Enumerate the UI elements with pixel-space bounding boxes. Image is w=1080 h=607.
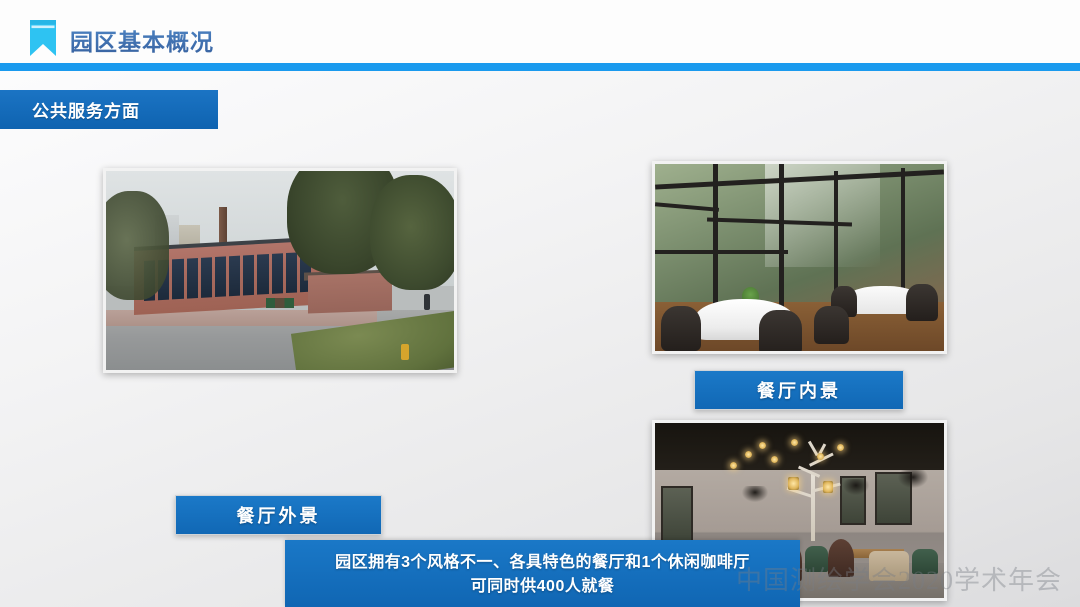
lantern (788, 477, 799, 490)
restaurant-exterior-photo (103, 168, 457, 373)
pendant-light (837, 444, 844, 451)
green-chair (912, 549, 938, 574)
lantern (823, 481, 833, 493)
glazing-transom (655, 250, 788, 254)
cafe-window-left (661, 486, 693, 544)
pendant-light (817, 453, 824, 460)
chandelier (843, 479, 869, 495)
section-ribbon: 公共服务方面 (0, 90, 218, 129)
header-divider (0, 63, 1080, 71)
slide: 园区基本概况 公共服务方面 (0, 0, 1080, 607)
green-chair (805, 546, 828, 572)
bookmark-icon (30, 20, 56, 56)
tree-trunk (811, 474, 814, 541)
trash-bins (266, 298, 294, 308)
caption-exterior: 餐厅外景 (175, 495, 382, 535)
summary-banner: 园区拥有3个风格不一、各具特色的餐厅和1个休闲咖啡厅 可同时供400人就餐 (285, 540, 800, 607)
caption-interior-label: 餐厅内景 (757, 377, 841, 403)
glazing-mullion (901, 168, 905, 291)
summary-line-1: 园区拥有3个风格不一、各具特色的餐厅和1个休闲咖啡厅 (335, 551, 750, 574)
glazing-mullion (713, 164, 718, 317)
chandelier (898, 470, 928, 488)
slide-body: 公共服务方面 (0, 71, 1080, 607)
glazing-mullion (779, 164, 784, 310)
caption-exterior-label: 餐厅外景 (237, 502, 321, 528)
glazing-mullion (834, 171, 838, 302)
dining-chair (661, 306, 701, 351)
pedestrian (424, 294, 430, 310)
dining-chair (759, 310, 802, 354)
tree-branch (807, 441, 817, 456)
restaurant-interior-photo (652, 161, 947, 354)
pendant-light (771, 456, 778, 463)
summary-line-2: 可同时供400人就餐 (471, 575, 615, 598)
conservatory-scene (655, 164, 944, 351)
pendant-light (745, 451, 752, 458)
caption-interior: 餐厅内景 (694, 370, 904, 410)
pendant-light (791, 439, 798, 446)
tree-branch (798, 465, 820, 477)
annex-building (308, 273, 392, 314)
section-ribbon-label: 公共服务方面 (32, 97, 140, 122)
dining-chair (814, 306, 849, 343)
fire-hydrant (401, 344, 409, 360)
page-title: 园区基本概况 (70, 23, 214, 57)
dining-chair (906, 284, 938, 321)
lounge-sofa (869, 551, 909, 581)
slide-header: 园区基本概况 (0, 0, 1080, 63)
exterior-scene (106, 171, 454, 370)
tree-right (370, 175, 457, 290)
chandelier (742, 486, 768, 502)
pendant-light (730, 462, 737, 469)
tree-left (103, 191, 169, 300)
dining-chair (828, 539, 854, 578)
